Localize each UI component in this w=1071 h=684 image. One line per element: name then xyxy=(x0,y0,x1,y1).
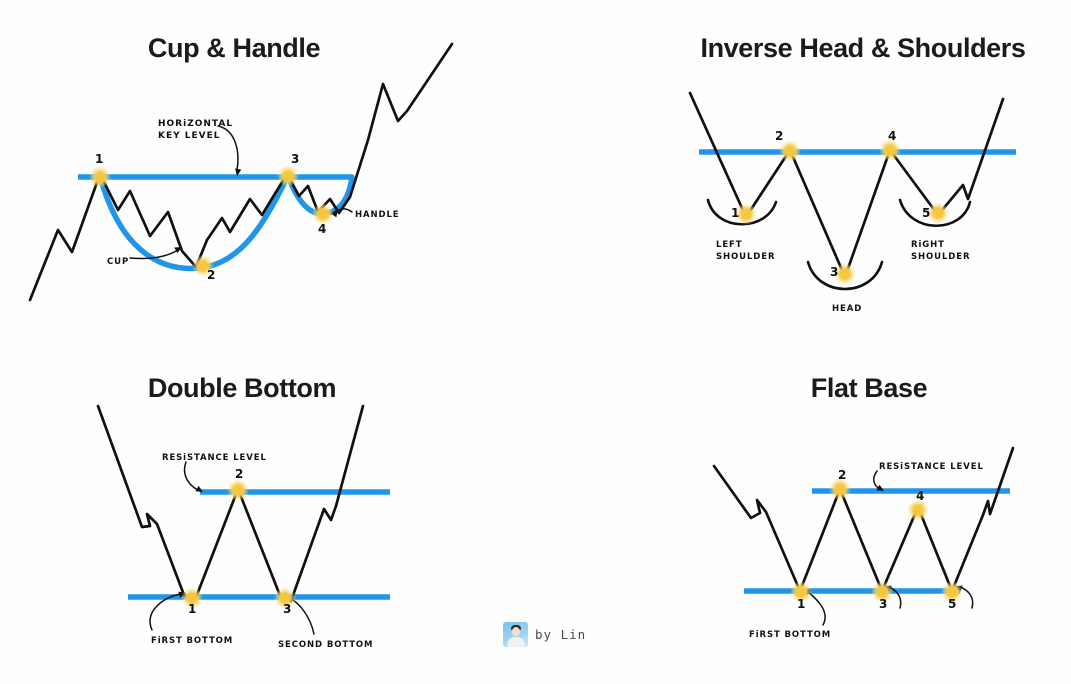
left-shoulder-label: LEFT SHOULDER xyxy=(716,239,775,263)
point-label-2: 2 xyxy=(207,268,215,282)
point-label-3: 3 xyxy=(283,602,291,616)
marker-core-1 xyxy=(741,209,751,219)
cup-arrow xyxy=(130,250,178,259)
watermark-label: by Lin xyxy=(535,627,586,642)
marker-core-3 xyxy=(840,269,850,279)
marker-core-5 xyxy=(933,208,943,218)
point-label-5: 5 xyxy=(922,206,930,220)
point-label-3: 3 xyxy=(291,152,299,166)
second-bottom-label: SECOND BOTTOM xyxy=(278,639,373,651)
panel-title-double-bottom: Double Bottom xyxy=(148,373,336,404)
right-shoulder-label: RiGHT SHOULDER xyxy=(911,239,970,263)
marker-core-2 xyxy=(785,146,795,156)
marker-core-2 xyxy=(835,484,845,494)
marker-core-4 xyxy=(913,505,923,515)
marker-core-1 xyxy=(95,172,105,182)
point-label-1: 1 xyxy=(731,206,739,220)
point-label-2: 2 xyxy=(775,129,783,143)
marker-core-1 xyxy=(796,587,806,597)
panel-double-bottom xyxy=(98,406,390,634)
point-label-4: 4 xyxy=(318,222,326,236)
point-label-4: 4 xyxy=(888,129,896,143)
resistance-arrow xyxy=(185,462,198,490)
horizontal-key-level-label: HORiZONTAL KEY LEVEL xyxy=(158,118,233,142)
watermark: by Lin xyxy=(503,622,586,647)
point-label-1: 1 xyxy=(797,597,805,611)
point-label-2: 2 xyxy=(838,468,846,482)
price-line xyxy=(98,406,363,601)
panel-title-flat-base: Flat Base xyxy=(811,373,927,404)
point-label-1: 1 xyxy=(188,602,196,616)
resistance-level-label: RESiSTANCE LEVEL xyxy=(162,452,267,464)
cup-label: CUP xyxy=(107,256,129,268)
marker-core-2 xyxy=(233,485,243,495)
marker-core-3 xyxy=(283,171,293,181)
panel-cup-and-handle xyxy=(30,44,452,300)
avatar-icon xyxy=(503,622,528,647)
point-label-3: 3 xyxy=(879,597,887,611)
point-label-2: 2 xyxy=(235,467,243,481)
handle-label: HANDLE xyxy=(355,209,399,221)
panel-title-inverse-head-and-shoulders: Inverse Head & Shoulders xyxy=(700,33,1025,64)
marker-core-5 xyxy=(947,587,957,597)
point-label-3: 3 xyxy=(830,265,838,279)
pattern-board xyxy=(0,0,1071,684)
cup-curve xyxy=(100,176,288,268)
marker-core-4 xyxy=(885,145,895,155)
resistance-level-label: RESiSTANCE LEVEL xyxy=(879,461,984,473)
first-bottom-label: FiRST BOTTOM xyxy=(749,629,831,641)
point-label-1: 1 xyxy=(95,152,103,166)
marker-core-4 xyxy=(318,209,328,219)
head-label: HEAD xyxy=(832,303,862,315)
panel-title-cup-and-handle: Cup & Handle xyxy=(148,33,320,64)
marker-core-3 xyxy=(877,587,887,597)
point-label-4: 4 xyxy=(916,489,924,503)
panel-flat-base xyxy=(714,448,1013,625)
point-label-5: 5 xyxy=(948,597,956,611)
chart-patterns-canvas xyxy=(0,0,1071,684)
first-bottom-label: FiRST BOTTOM xyxy=(151,635,233,647)
